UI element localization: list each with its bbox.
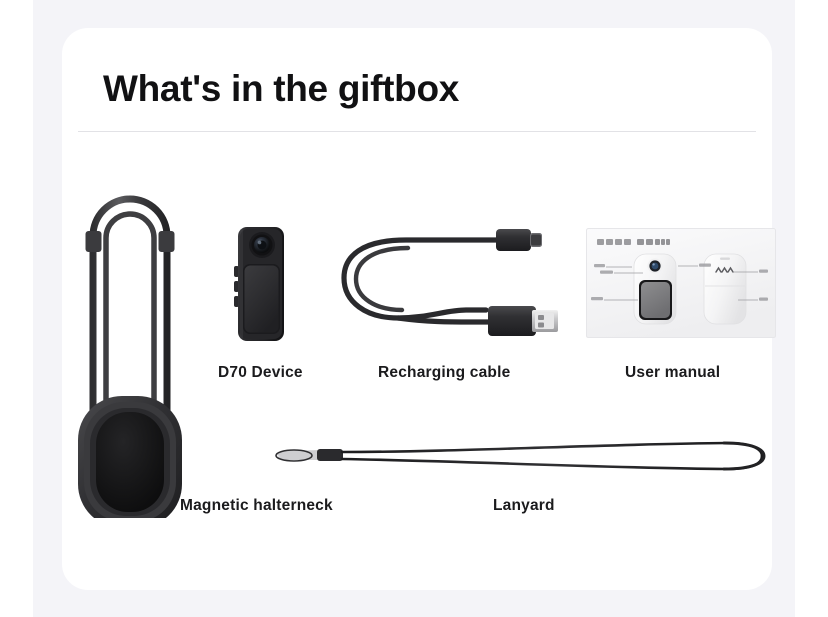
product-giftbox-page: What's in the giftbox (0, 0, 828, 617)
manual-page-illustration (586, 228, 776, 338)
lanyard-illustration (272, 430, 772, 485)
camera-device-illustration (231, 224, 293, 344)
page-title: What's in the giftbox (103, 68, 459, 110)
halterneck-illustration (60, 158, 240, 518)
usb-c-connector-icon (496, 229, 542, 251)
title-divider (78, 131, 756, 132)
label-d70-device: D70 Device (218, 364, 303, 382)
usb-cable-illustration (336, 222, 558, 344)
manual-device-front-view (634, 254, 676, 324)
label-magnetic-halterneck: Magnetic halterneck (180, 497, 333, 515)
label-lanyard: Lanyard (493, 497, 555, 515)
usb-a-connector-icon (488, 306, 558, 336)
label-user-manual: User manual (625, 364, 720, 382)
label-recharging-cable: Recharging cable (378, 364, 510, 382)
